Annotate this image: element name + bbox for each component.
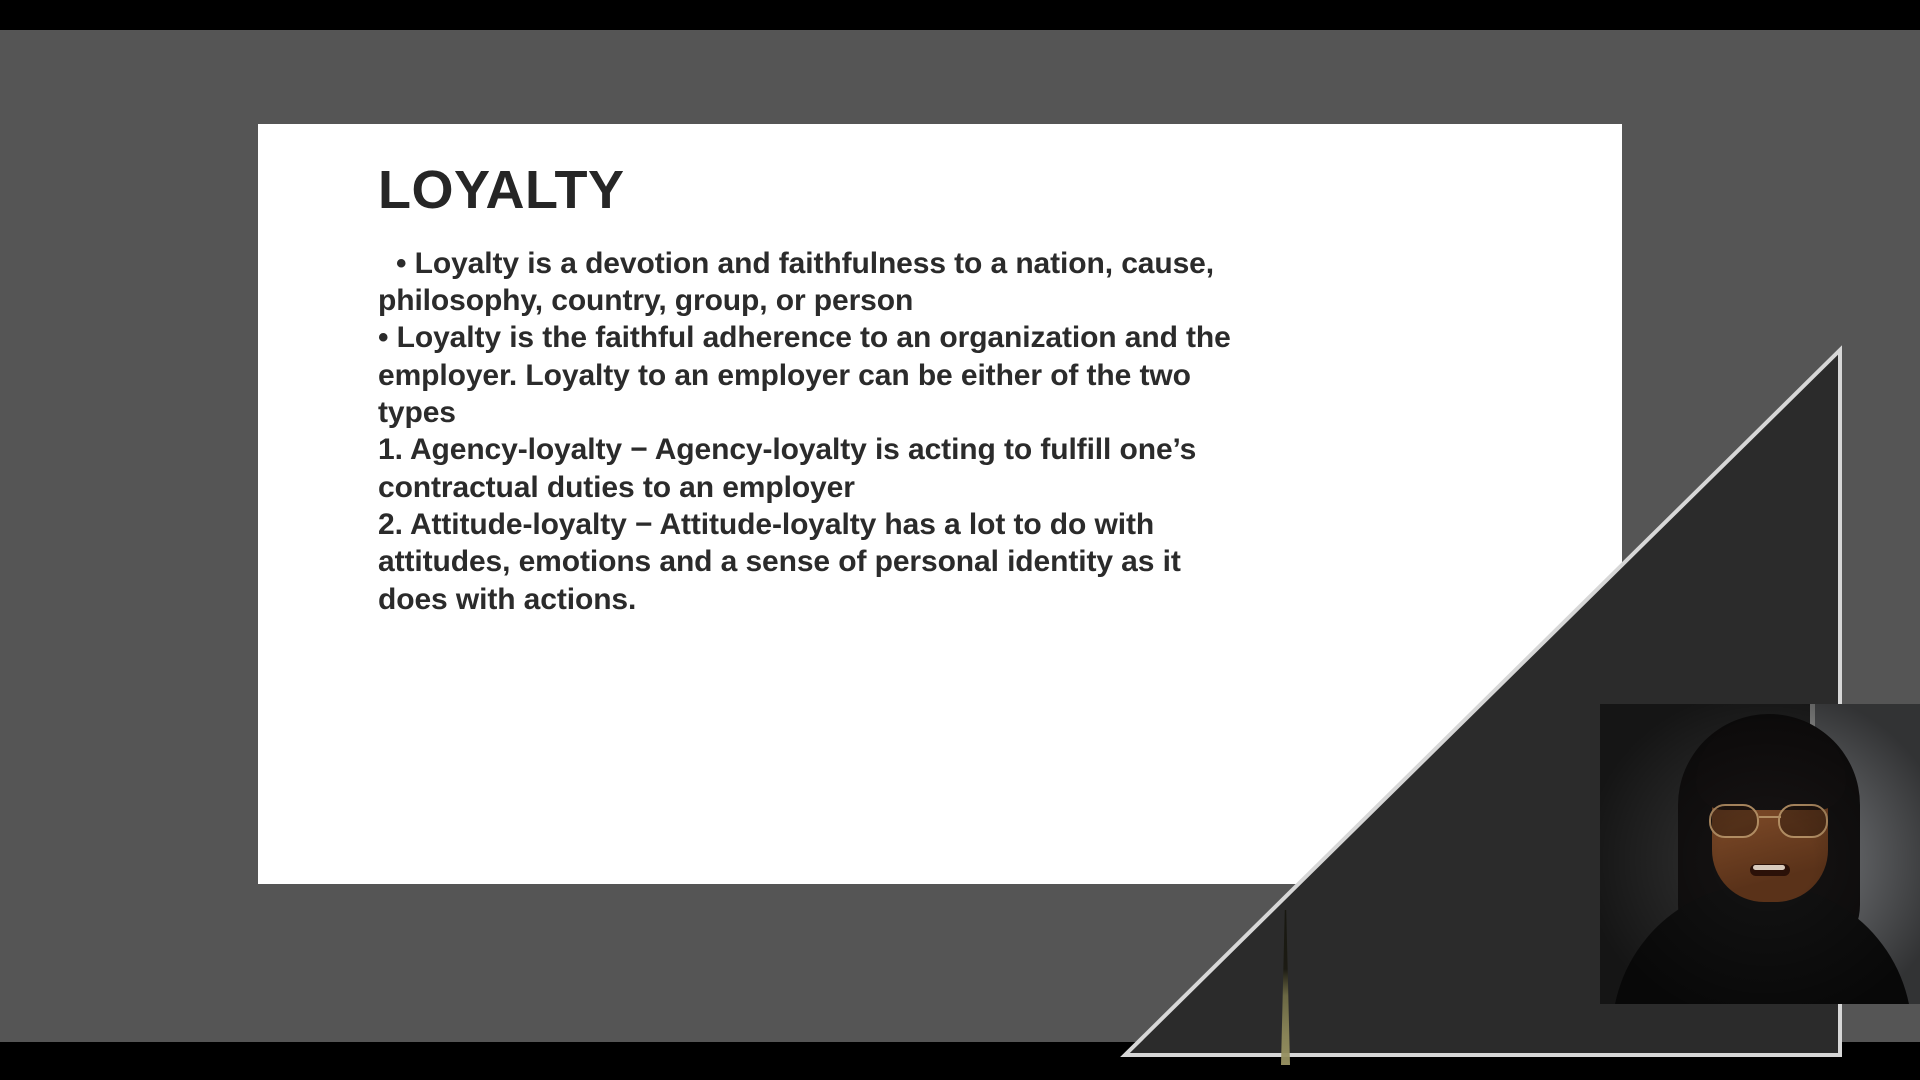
slide-paragraph-2: • Loyalty is the faithful adherence to a… xyxy=(378,319,1238,431)
presentation-viewport: LOYALTY • Loyalty is a devotion and fait… xyxy=(0,30,1920,1042)
pointer-stylus-object xyxy=(1281,910,1290,1065)
slide-title: LOYALTY xyxy=(378,162,1238,219)
presenter-webcam-video[interactable] xyxy=(1600,704,1920,1004)
slide-paragraph-1: • Loyalty is a devotion and faithfulness… xyxy=(378,245,1238,320)
presentation-slide: LOYALTY • Loyalty is a devotion and fait… xyxy=(258,124,1622,884)
slide-content: LOYALTY • Loyalty is a devotion and fait… xyxy=(378,162,1238,618)
slide-paragraph-3: 1. Agency-loyalty − Agency-loyalty is ac… xyxy=(378,431,1238,506)
screen-recording-frame: LOYALTY • Loyalty is a devotion and fait… xyxy=(0,0,1920,1080)
webcam-vignette xyxy=(1600,704,1920,1004)
slide-paragraph-4: 2. Attitude-loyalty − Attitude-loyalty h… xyxy=(378,506,1238,618)
